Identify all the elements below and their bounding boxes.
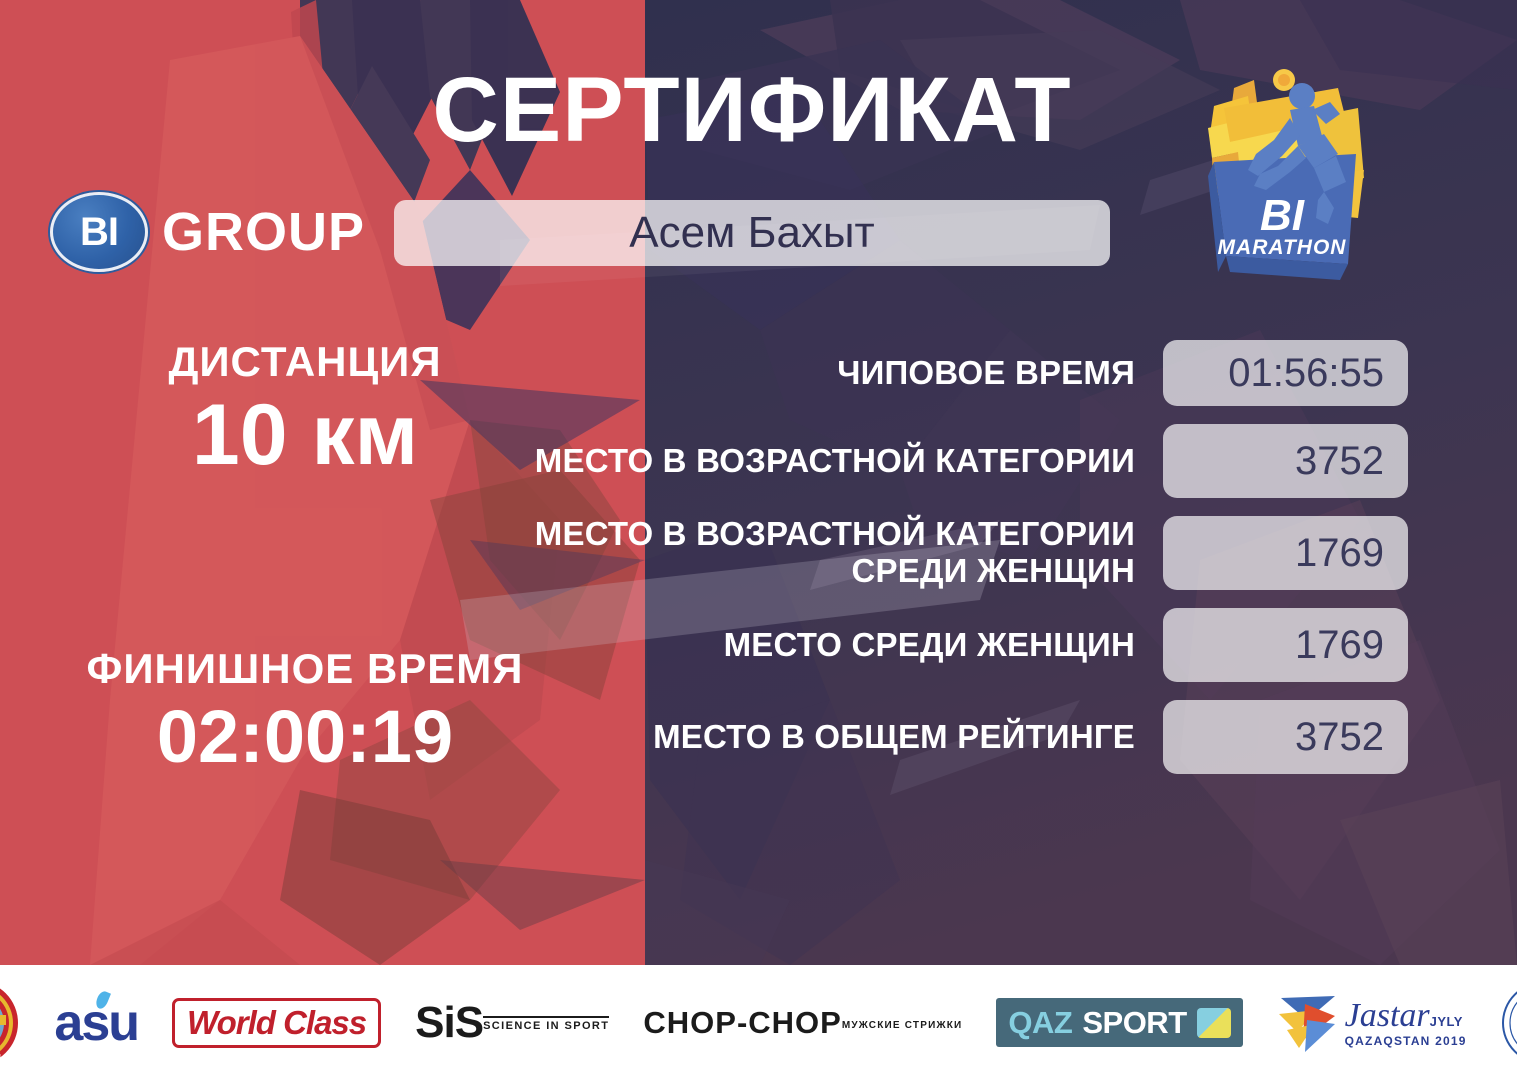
status-badge: 1769 — [1163, 608, 1408, 682]
finish-time-value: 02:00:19 — [40, 696, 570, 777]
jastar-arrow-icon — [1277, 990, 1339, 1056]
status-badge: 3752 — [1163, 700, 1408, 774]
sis-wordmark: SiS — [415, 1001, 483, 1045]
stat-label: МЕСТО СРЕДИ ЖЕНЩИН — [520, 627, 1163, 664]
sponsor-bar: NUR-SULTAN asu World Class SiS SCIENCE I… — [0, 965, 1517, 1080]
asu-logo: asu — [54, 997, 138, 1049]
content-layer: СЕРТИФИКАТ BI GROUP Асем Бахыт — [0, 0, 1517, 965]
stat-row-age-category-place: МЕСТО В ВОЗРАСТНОЙ КАТЕГОРИИ 3752 — [520, 424, 1408, 498]
finish-time-block: ФИНИШНОЕ ВРЕМЯ 02:00:19 — [40, 646, 570, 778]
qazsport-wordmark-b: SPORT — [1082, 1007, 1186, 1038]
world-class-wordmark: World Class — [172, 998, 381, 1048]
stat-label: МЕСТО В ОБЩЕМ РЕЙТИНГЕ — [520, 719, 1163, 756]
stat-label: МЕСТО В ВОЗРАСТНОЙ КАТЕГОРИИ — [520, 443, 1163, 480]
participant-name: Асем Бахыт — [629, 208, 874, 258]
page-title: СЕРТИФИКАТ — [392, 64, 1112, 156]
status-badge: 3752 — [1163, 424, 1408, 498]
qazsport-chip-icon — [1197, 1008, 1231, 1038]
status-badge: 1769 — [1163, 516, 1408, 590]
stat-row-women-place: МЕСТО СРЕДИ ЖЕНЩИН 1769 — [520, 608, 1408, 682]
svg-text:MARATHON: MARATHON — [1218, 236, 1347, 259]
results-table: ЧИПОВОЕ ВРЕМЯ 01:56:55 МЕСТО В ВОЗРАСТНО… — [520, 340, 1408, 792]
world-class-logo: World Class — [172, 998, 381, 1048]
stat-label: ЧИПОВОЕ ВРЕМЯ — [520, 355, 1163, 392]
chop-chop-wordmark: CHOP-CHOP — [643, 1007, 841, 1038]
sis-logo: SiS SCIENCE IN SPORT — [415, 1001, 609, 1045]
bi-group-wordmark: GROUP — [162, 201, 365, 263]
nur-sultan-emblem-icon: NUR-SULTAN — [0, 979, 20, 1067]
certificate-page: СЕРТИФИКАТ BI GROUP Асем Бахыт — [0, 0, 1517, 1080]
chop-chop-tagline: МУЖСКИЕ СТРИЖКИ — [842, 1021, 963, 1031]
bi-group-logo: BI GROUP — [50, 192, 365, 272]
stat-row-chip-time: ЧИПОВОЕ ВРЕМЯ 01:56:55 — [520, 340, 1408, 406]
distance-label: ДИСТАНЦИЯ — [40, 340, 570, 384]
bi-marathon-logo-icon: BI MARATHON — [1178, 58, 1388, 298]
stat-label: МЕСТО В ВОЗРАСТНОЙ КАТЕГОРИИ СРЕДИ ЖЕНЩИ… — [520, 516, 1163, 590]
stat-row-age-category-women-place: МЕСТО В ВОЗРАСТНОЙ КАТЕГОРИИ СРЕДИ ЖЕНЩИ… — [520, 516, 1408, 590]
svg-text:BI: BI — [1260, 191, 1305, 240]
jastar-jyly-logo: JastarJYLY QAZAQSTAN 2019 — [1277, 990, 1467, 1056]
stat-row-overall-place: МЕСТО В ОБЩЕМ РЕЙТИНГЕ 3752 — [520, 700, 1408, 774]
qazsport-logo: QAZSPORT — [996, 998, 1242, 1047]
jastar-wordmark: Jastar — [1345, 997, 1430, 1034]
finish-time-label: ФИНИШНОЕ ВРЕМЯ — [40, 646, 570, 692]
ministry-emblem-icon — [1501, 981, 1517, 1065]
bi-badge-icon: BI — [50, 192, 148, 272]
sis-tagline: SCIENCE IN SPORT — [483, 1016, 609, 1032]
distance-value: 10 км — [40, 390, 570, 480]
svg-text:NUR-SULTAN: NUR-SULTAN — [0, 1054, 2, 1061]
chop-chop-logo: CHOP-CHOP МУЖСКИЕ СТРИЖКИ — [643, 1007, 962, 1038]
qazsport-wordmark-a: QAZ — [1008, 1007, 1072, 1038]
status-badge: 01:56:55 — [1163, 340, 1408, 406]
participant-name-field: Асем Бахыт — [394, 200, 1110, 266]
bi-badge-text: BI — [80, 210, 118, 255]
jastar-subtitle: QAZAQSTAN 2019 — [1345, 1035, 1467, 1047]
distance-block: ДИСТАНЦИЯ 10 км — [40, 340, 570, 480]
jastar-jyly-word: JYLY — [1430, 1014, 1463, 1029]
